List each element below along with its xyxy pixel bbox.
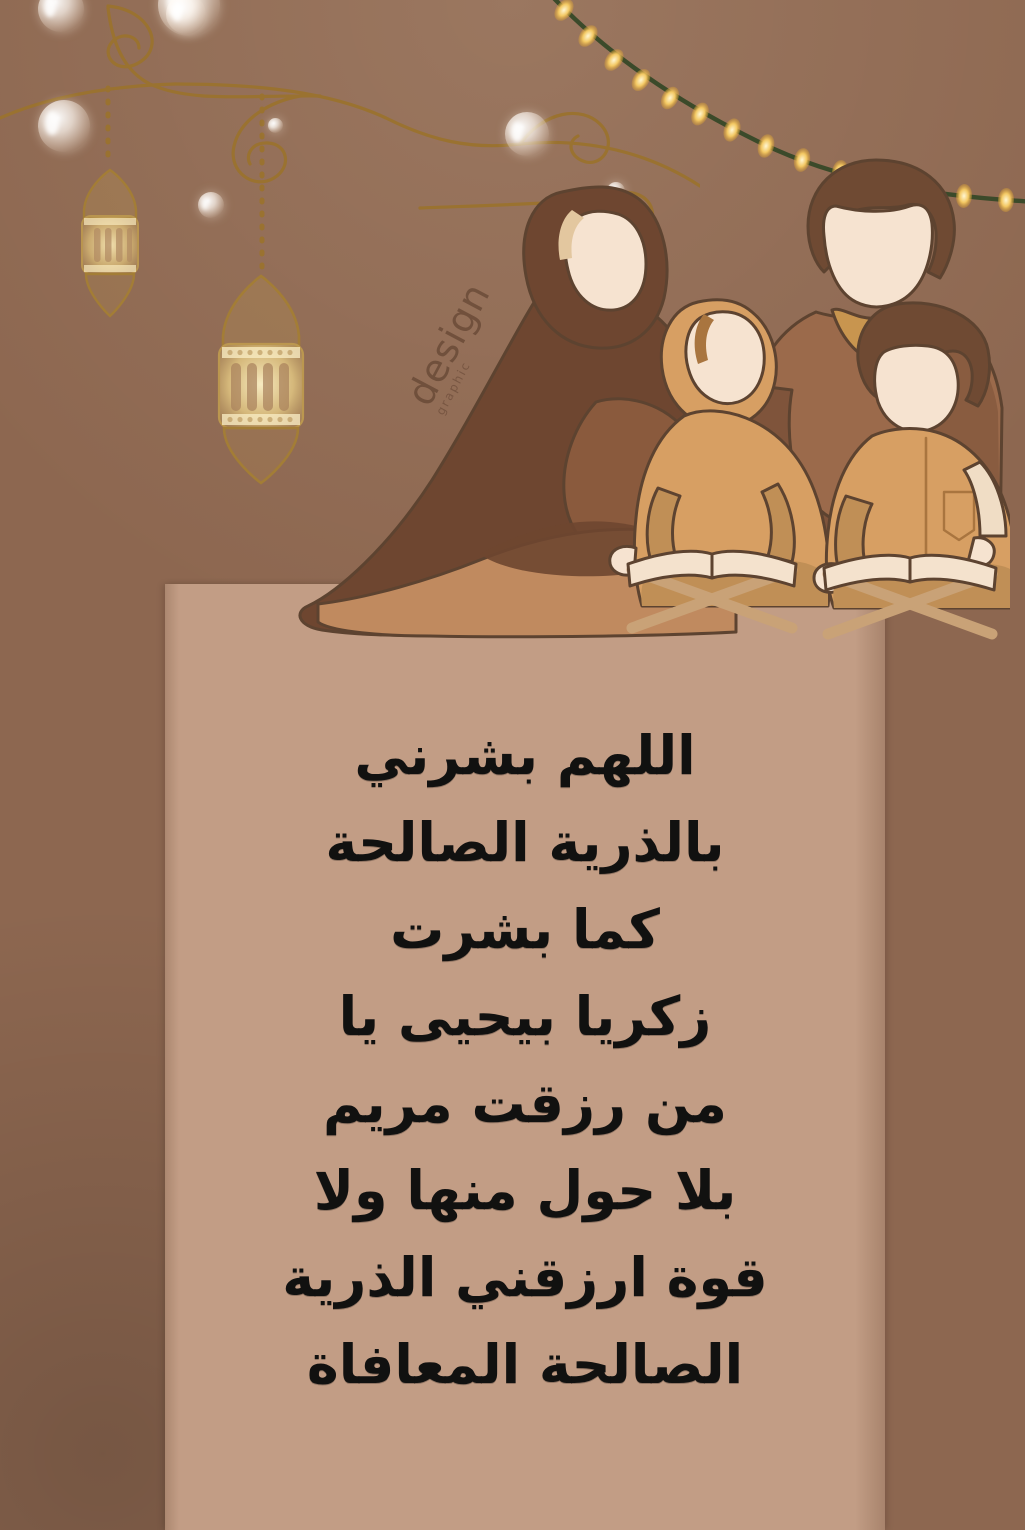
dua-line-8: الصالحة المعافاة	[185, 1321, 865, 1408]
dua-line-5: من رزقت مريم	[185, 1060, 865, 1147]
dua-line-4: زكريا بيحيى يا	[185, 973, 865, 1060]
dua-line-1: اللهم بشرني	[185, 712, 865, 799]
greeting-card-canvas: design graphic اللهم بشرني بالذرية الصال…	[0, 0, 1025, 1530]
lantern-small	[72, 166, 148, 326]
pearl-8	[268, 118, 283, 133]
pearl-4	[38, 100, 90, 152]
panel-left-shadow	[165, 584, 179, 1530]
pearl-5	[198, 192, 224, 218]
dua-text-block: اللهم بشرني بالذرية الصالحة كما بشرت زكر…	[185, 712, 865, 1408]
dua-line-2: بالذرية الصالحة	[185, 799, 865, 886]
dua-line-3: كما بشرت	[185, 886, 865, 973]
dua-line-6: بلا حول منها ولا	[185, 1147, 865, 1234]
dua-line-7: قوة ارزقني الذرية	[185, 1234, 865, 1321]
muslim-family-illustration	[280, 140, 1010, 660]
